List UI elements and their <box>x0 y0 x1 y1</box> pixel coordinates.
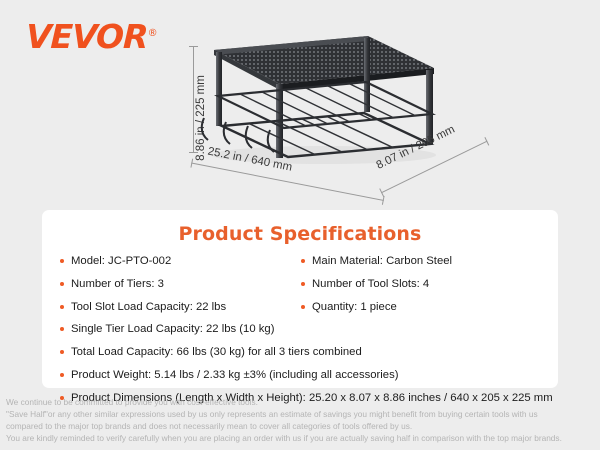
spec-item-text: Single Tier Load Capacity: 22 lbs (10 kg… <box>71 322 274 337</box>
vevor-brand-logo: VEVOR® <box>25 20 158 53</box>
hero-section: VEVOR® 8.86 in / 225 mm <box>0 0 600 200</box>
spec-item-text: Main Material: Carbon Steel <box>312 254 452 269</box>
disclaimer-footer: We continue to be committed to provide y… <box>6 396 596 444</box>
spec-full-width-rows: Single Tier Load Capacity: 22 lbs (10 kg… <box>42 322 558 406</box>
disclaimer-line: "Save Half"or any other similar expressi… <box>6 408 596 420</box>
spec-item: Product Weight: 5.14 lbs / 2.33 kg ±3% (… <box>60 368 542 383</box>
bullet-icon <box>60 350 64 354</box>
spec-item: Model: JC-PTO-002 <box>60 254 301 269</box>
spec-item: Quantity: 1 piece <box>301 300 542 315</box>
spec-right-column: Main Material: Carbon Steel Number of To… <box>301 254 542 322</box>
disclaimer-line: You are kindly reminded to verify carefu… <box>6 432 596 444</box>
spec-item: Single Tier Load Capacity: 22 lbs (10 kg… <box>60 322 542 337</box>
product-specifications-panel: Product Specifications Model: JC-PTO-002… <box>42 210 558 388</box>
spec-item-text: Tool Slot Load Capacity: 22 lbs <box>71 300 226 315</box>
bullet-icon <box>60 259 64 263</box>
spec-item-text: Total Load Capacity: 66 lbs (30 kg) for … <box>71 345 362 360</box>
bullet-icon <box>301 259 305 263</box>
spec-item-text: Number of Tiers: 3 <box>71 277 164 292</box>
dimension-height-line <box>193 46 194 153</box>
spec-item: Number of Tiers: 3 <box>60 277 301 292</box>
spec-item-text: Number of Tool Slots: 4 <box>312 277 429 292</box>
spec-panel-title: Product Specifications <box>42 223 558 245</box>
disclaimer-line: compared to the major top brands and doe… <box>6 420 596 432</box>
bullet-icon <box>301 305 305 309</box>
registered-trademark-icon: ® <box>147 28 157 39</box>
spec-item-text: Product Weight: 5.14 lbs / 2.33 kg ±3% (… <box>71 368 399 383</box>
bullet-icon <box>60 373 64 377</box>
spec-item: Total Load Capacity: 66 lbs (30 kg) for … <box>60 345 542 360</box>
bullet-icon <box>301 282 305 286</box>
disclaimer-line: We continue to be committed to provide y… <box>6 396 596 408</box>
spec-item-text: Model: JC-PTO-002 <box>71 254 171 269</box>
spec-left-column: Model: JC-PTO-002 Number of Tiers: 3 Too… <box>60 254 301 322</box>
spec-item: Main Material: Carbon Steel <box>301 254 542 269</box>
bullet-icon <box>60 305 64 309</box>
spec-item: Tool Slot Load Capacity: 22 lbs <box>60 300 301 315</box>
spec-item-text: Quantity: 1 piece <box>312 300 397 315</box>
spec-columns: Model: JC-PTO-002 Number of Tiers: 3 Too… <box>42 254 558 322</box>
bullet-icon <box>60 282 64 286</box>
brand-name-text: VEVOR <box>25 17 148 56</box>
spec-item: Number of Tool Slots: 4 <box>301 277 542 292</box>
bullet-icon <box>60 327 64 331</box>
